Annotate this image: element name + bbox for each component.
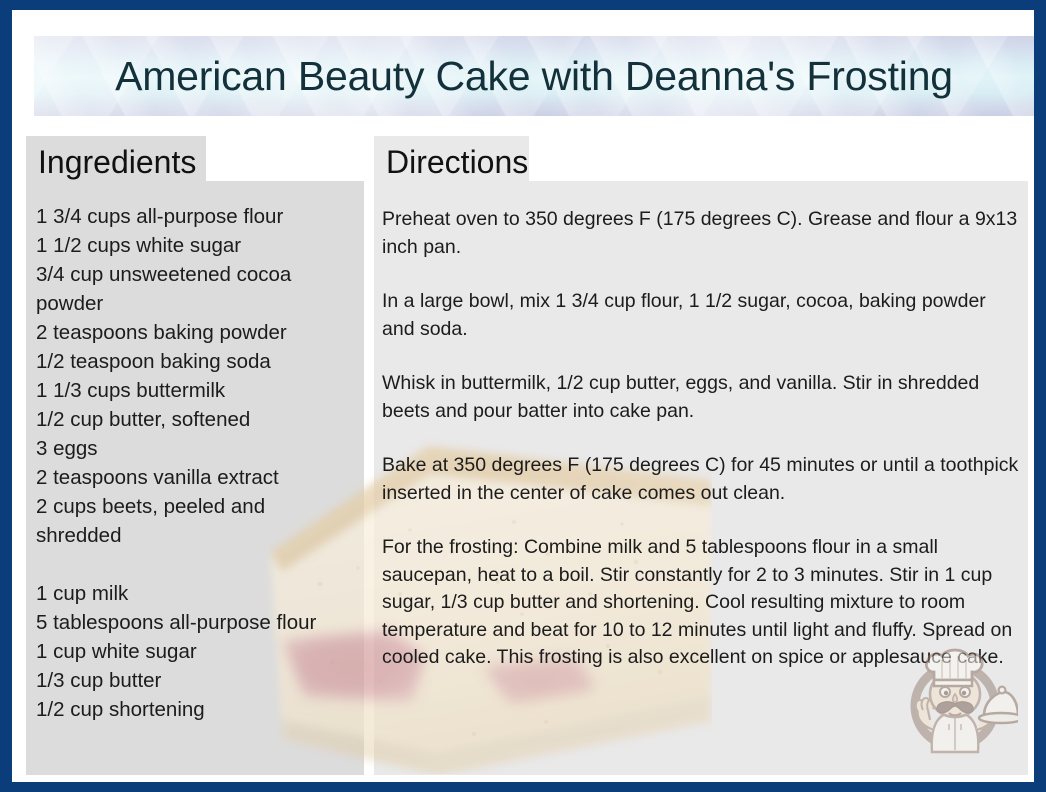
frosting-ingredient-item: 5 tablespoons all-purpose flour xyxy=(36,608,356,637)
ingredients-list: 1 3/4 cups all-purpose flour 1 1/2 cups … xyxy=(36,202,356,724)
ingredient-item: 1 3/4 cups all-purpose flour xyxy=(36,202,356,231)
frosting-ingredient-item: 1/3 cup butter xyxy=(36,666,356,695)
directions-steps: Preheat oven to 350 degrees F (175 degre… xyxy=(382,206,1022,672)
direction-step: For the frosting: Combine milk and 5 tab… xyxy=(382,534,1022,672)
ingredient-item: 2 teaspoons vanilla extract xyxy=(36,463,356,492)
ingredients-group-separator xyxy=(36,550,356,579)
ingredient-item: 1/2 cup butter, softened xyxy=(36,405,356,434)
ingredient-item: 2 cups beets, peeled and shredded xyxy=(36,492,356,550)
ingredient-item: 1 1/2 cups white sugar xyxy=(36,231,356,260)
recipe-title-banner: American Beauty Cake with Deanna's Frost… xyxy=(34,36,1034,116)
directions-heading-label: Directions xyxy=(386,143,528,181)
direction-step: Whisk in buttermilk, 1/2 cup butter, egg… xyxy=(382,370,1022,425)
ingredient-item: 1 1/3 cups buttermilk xyxy=(36,376,356,405)
direction-step: In a large bowl, mix 1 3/4 cup flour, 1 … xyxy=(382,288,1022,343)
ingredients-heading-label: Ingredients xyxy=(38,143,196,181)
ingredient-item: 3/4 cup unsweetened cocoa powder xyxy=(36,260,356,318)
ingredients-header: Ingredients xyxy=(26,136,206,182)
recipe-card-frame: American Beauty Cake with Deanna's Frost… xyxy=(0,0,1046,792)
ingredient-item: 1/2 teaspoon baking soda xyxy=(36,347,356,376)
ingredient-item: 3 eggs xyxy=(36,434,356,463)
page-title: American Beauty Cake with Deanna's Frost… xyxy=(34,36,1034,116)
ingredient-item: 2 teaspoons baking powder xyxy=(36,318,356,347)
direction-step: Preheat oven to 350 degrees F (175 degre… xyxy=(382,206,1022,261)
frosting-ingredient-item: 1 cup milk xyxy=(36,579,356,608)
recipe-card-inner: American Beauty Cake with Deanna's Frost… xyxy=(12,10,1034,782)
frosting-ingredient-item: 1/2 cup shortening xyxy=(36,695,356,724)
frosting-ingredient-item: 1 cup white sugar xyxy=(36,637,356,666)
directions-header: Directions xyxy=(374,136,529,182)
direction-step: Bake at 350 degrees F (175 degrees C) fo… xyxy=(382,452,1022,507)
